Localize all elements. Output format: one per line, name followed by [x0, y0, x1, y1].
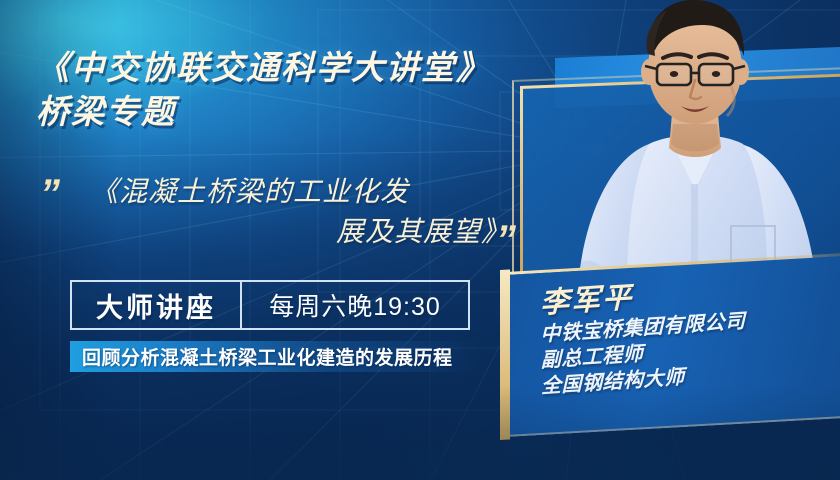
- lecture-topic-quote: ” 《混凝土桥梁的工业化发 展及其展望》 ”: [38, 172, 518, 252]
- description-text: 回顾分析混凝土桥梁工业化建造的发展历程: [70, 343, 453, 370]
- quote-line-2: 展及其展望》: [90, 212, 518, 252]
- quote-text: 《混凝土桥梁的工业化发 展及其展望》: [38, 172, 518, 252]
- title-line-1: 《中交协联交通科学大讲堂》: [36, 46, 556, 90]
- schedule-label: 大师讲座: [96, 286, 216, 325]
- schedule-label-cell: 大师讲座: [72, 282, 240, 328]
- speaker-info: 李军平 中铁宝桥集团有限公司 副总工程师 全国钢结构大师: [540, 268, 840, 400]
- lecture-poster: 李军平 中铁宝桥集团有限公司 副总工程师 全国钢结构大师 《中交协联交通科学大讲…: [0, 0, 840, 480]
- schedule-time: 每周六晚19:30: [269, 287, 441, 323]
- page-title: 《中交协联交通科学大讲堂》 桥梁专题: [36, 46, 556, 133]
- quote-line-1: 《混凝土桥梁的工业化发: [90, 172, 518, 212]
- quote-close-mark: ”: [496, 220, 513, 260]
- name-card-left-edge: [500, 269, 510, 440]
- description-bar: 回顾分析混凝土桥梁工业化建造的发展历程: [70, 341, 480, 372]
- quote-open-mark: ”: [40, 174, 57, 214]
- title-line-2: 桥梁专题: [36, 90, 556, 134]
- schedule-time-cell: 每周六晚19:30: [240, 282, 468, 328]
- schedule-box: 大师讲座 每周六晚19:30: [70, 280, 470, 330]
